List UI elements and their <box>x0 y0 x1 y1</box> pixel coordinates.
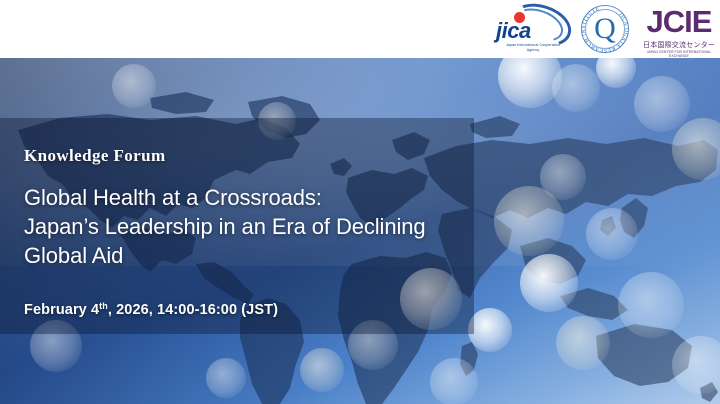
hero-datetime: February 4th, 2026, 14:00-16:00 (JST) <box>24 297 474 319</box>
hero-kicker: Knowledge Forum <box>24 146 474 166</box>
jica-subtitle: Japan International Cooperation Agency <box>500 43 566 52</box>
svg-text:JICA OGATA RESEARCH INSTITUTE: JICA OGATA RESEARCH INSTITUTE <box>581 6 629 53</box>
hero-text-block: Knowledge Forum Global Health at a Cross… <box>0 118 474 334</box>
logo-header-band: jica Japan International Cooperation Age… <box>0 0 720 58</box>
jcie-wordmark: JCIE <box>642 5 716 38</box>
jcie-logo: JCIE 日本国際交流センター JAPAN CENTER FOR INTERNA… <box>642 4 716 56</box>
hero-date-rest: , 2026, 14:00-16:00 (JST) <box>108 302 278 318</box>
hero-title-line-1: Global Health at a Crossroads: <box>24 183 474 212</box>
jcie-subtitle-en: JAPAN CENTER FOR INTERNATIONAL EXCHANGE <box>642 50 716 58</box>
knowledge-forum-banner: Knowledge Forum Global Health at a Cross… <box>0 0 720 404</box>
hero-title-line-2: Japan’s Leadership in an Era of Declinin… <box>24 212 474 241</box>
jica-ogata-research-institute-logo: Q JICA OGATA RESEARCH INSTITUTE <box>578 4 632 56</box>
jcie-subtitle-jp: 日本国際交流センター <box>642 41 716 50</box>
logo-row: jica Japan International Cooperation Age… <box>496 4 716 56</box>
hero-title: Global Health at a Crossroads: Japan’s L… <box>24 183 474 270</box>
hero-title-line-3: Global Aid <box>24 241 474 270</box>
jica-wordmark: jica <box>496 20 531 42</box>
hero-date-monthday: February 4 <box>24 302 99 318</box>
ogata-ring-text: JICA OGATA RESEARCH INSTITUTE <box>581 5 629 53</box>
jica-logo: jica Japan International Cooperation Age… <box>496 4 568 54</box>
hero-date-ordinal: th <box>99 301 108 311</box>
ogata-ring-text-path: JICA OGATA RESEARCH INSTITUTE <box>581 6 629 53</box>
